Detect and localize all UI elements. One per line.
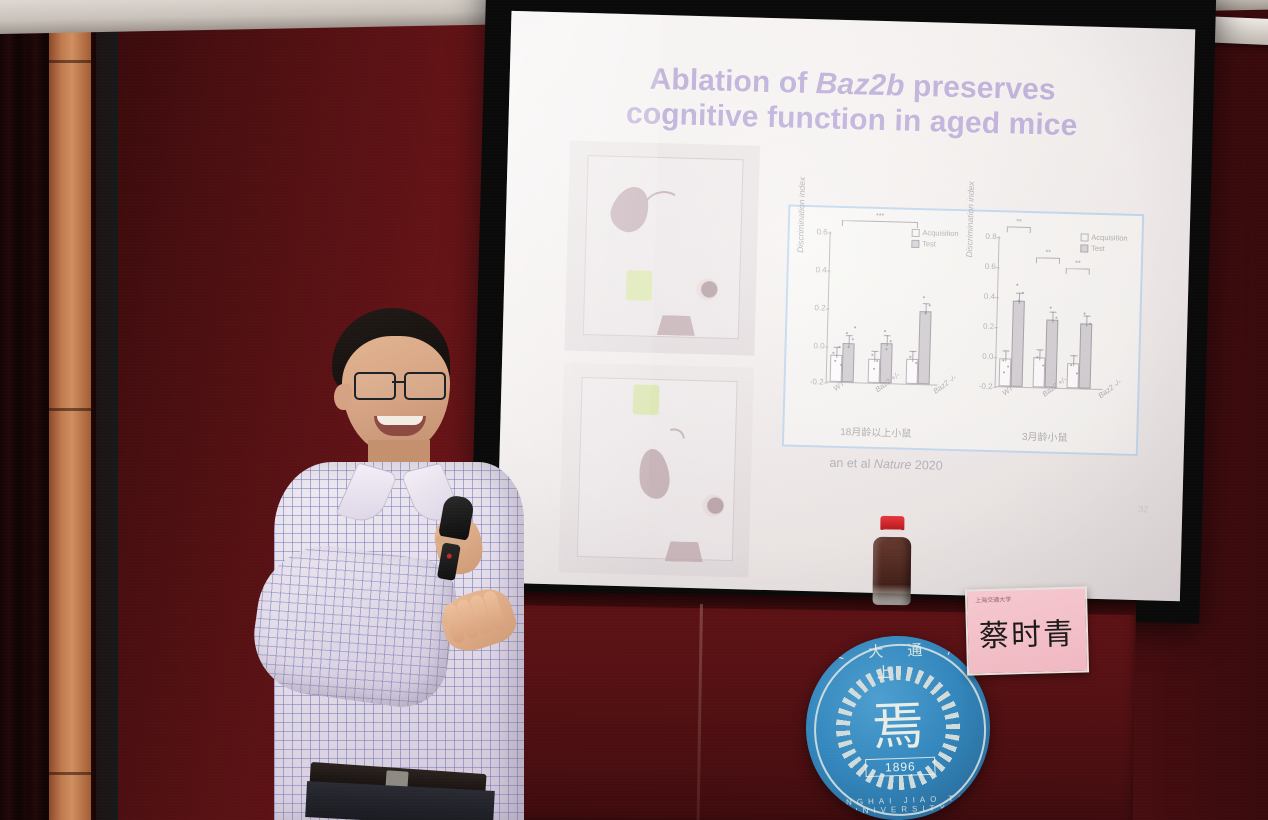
chart-xlabel: 3月龄小鼠 xyxy=(963,426,1126,445)
ytick: 0.2 xyxy=(798,303,826,313)
ytick: 0.6 xyxy=(968,261,996,271)
significance-bracket: *** xyxy=(842,220,918,228)
nameplate-logo: 上海交通大学 xyxy=(975,594,1011,604)
bar-test xyxy=(1011,301,1025,387)
slide-title-gene: Baz2b xyxy=(815,67,905,102)
bar-acquisition xyxy=(1067,363,1080,388)
green-object-icon xyxy=(633,384,660,415)
chart-ylabel: Discrimination index xyxy=(964,181,976,257)
chart-ylabel: Discrimination index xyxy=(795,177,807,253)
chart-xtick-labels: WT Baz2 +/- Baz2 -/- xyxy=(825,386,957,399)
arena-frame xyxy=(583,155,744,339)
citation-post: 2020 xyxy=(911,458,943,473)
ytick: 0.0 xyxy=(965,351,993,361)
glasses-icon xyxy=(354,372,450,398)
ytick: -0.2 xyxy=(796,377,824,387)
significance-bracket: ** xyxy=(1007,226,1031,233)
arena-photo-top xyxy=(564,141,760,356)
chart-bars xyxy=(830,232,934,385)
chart-xlabel: 18月龄以上小鼠 xyxy=(794,422,957,441)
nameplate-name: 蔡时青 xyxy=(967,608,1086,655)
citation-pre: an et al xyxy=(829,456,874,471)
chart-aged-mice: Discrimination index 0.6 0.4 0.2 0.0 -0.… xyxy=(794,217,963,439)
bar-test xyxy=(1045,320,1059,388)
speaker xyxy=(250,300,550,820)
slide-title-post: preserves xyxy=(904,70,1056,107)
ytick: 0.0 xyxy=(796,341,824,351)
ytick: -0.2 xyxy=(964,381,992,391)
ytick: 0.2 xyxy=(966,321,994,331)
emblem-year: 1896 xyxy=(865,757,936,777)
water-bottle xyxy=(872,516,913,606)
slide-citation: an et al Nature 2020 xyxy=(829,456,943,473)
shadow-shape-icon xyxy=(657,315,696,336)
arena-photo-bottom xyxy=(558,362,754,577)
chart-young-mice: Discrimination index 0.8 0.6 0.4 0.2 0.0… xyxy=(963,221,1132,443)
legend-label: Acquisition xyxy=(1091,233,1128,243)
lectern-seam xyxy=(696,604,702,820)
slide-title: Ablation of Baz2b preserves cognitive fu… xyxy=(566,60,1138,145)
bar-test xyxy=(842,343,855,382)
ytick: 0.8 xyxy=(968,231,996,241)
figure-panel: Discrimination index 0.6 0.4 0.2 0.0 -0.… xyxy=(782,204,1144,456)
ytick: 0.4 xyxy=(967,291,995,301)
slide-title-pre: Ablation of xyxy=(649,63,816,100)
projection-screen: Ablation of Baz2b preserves cognitive fu… xyxy=(469,0,1216,624)
bar-acquisition xyxy=(906,359,919,384)
shadow-shape-icon xyxy=(665,541,704,562)
chart-bars xyxy=(999,236,1095,388)
photo-column xyxy=(558,141,760,590)
slide-surface: Ablation of Baz2b preserves cognitive fu… xyxy=(496,11,1195,601)
ytick: 0.4 xyxy=(799,265,827,275)
green-object-icon xyxy=(626,270,653,301)
significance-label: *** xyxy=(876,213,884,220)
ytick: 0.6 xyxy=(800,227,828,237)
emblem-cn-text: 交大通海上 xyxy=(803,637,988,685)
citation-journal: Nature xyxy=(874,457,912,472)
lecture-scene: Ablation of Baz2b preserves cognitive fu… xyxy=(0,0,1268,820)
xtick-label: Baz2 -/- xyxy=(1096,377,1122,400)
wood-wall-panel xyxy=(49,0,91,820)
ear xyxy=(334,384,352,410)
chart-xtick-labels: WT Baz2 +/- Baz2 -/- xyxy=(994,390,1122,402)
bar-test xyxy=(918,311,932,384)
xtick-label: Baz2 -/- xyxy=(931,373,957,396)
speaker-nameplate: 上海交通大学 蔡时青 xyxy=(965,586,1089,675)
bar-test xyxy=(1079,323,1093,388)
significance-label: ** xyxy=(1016,219,1022,226)
bar-acquisition xyxy=(1033,357,1046,387)
slide-number: 32 xyxy=(1138,504,1148,514)
